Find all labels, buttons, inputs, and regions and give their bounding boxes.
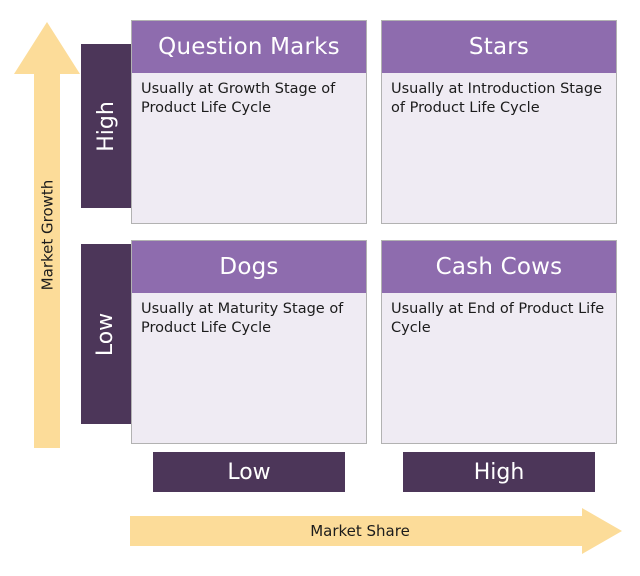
quadrant-dogs-header: Dogs — [132, 241, 366, 293]
quadrant-cash-cows[interactable]: Cash Cows Usually at End of Product Life… — [381, 240, 617, 444]
quadrant-stars-title: Stars — [469, 34, 529, 60]
axis-tick-share-high: High — [403, 452, 595, 492]
bcg-matrix-diagram: Market Growth Market Share High Low Low … — [0, 0, 640, 576]
axis-tick-growth-low: Low — [81, 244, 131, 424]
quadrant-question-marks-description: Usually at Growth Stage of Product Life … — [132, 73, 366, 118]
axis-tick-growth-high-label: High — [94, 101, 119, 152]
market-share-arrow-icon — [130, 508, 622, 554]
axis-tick-growth-low-label: Low — [93, 312, 118, 355]
quadrant-dogs-description: Usually at Maturity Stage of Product Lif… — [132, 293, 366, 338]
quadrant-question-marks-title: Question Marks — [158, 34, 340, 60]
market-growth-arrow-icon — [12, 22, 82, 448]
quadrant-question-marks-header: Question Marks — [132, 21, 366, 73]
quadrant-dogs[interactable]: Dogs Usually at Maturity Stage of Produc… — [131, 240, 367, 444]
quadrant-question-marks[interactable]: Question Marks Usually at Growth Stage o… — [131, 20, 367, 224]
axis-tick-growth-high: High — [81, 44, 131, 208]
quadrant-stars-header: Stars — [382, 21, 616, 73]
quadrant-dogs-title: Dogs — [219, 254, 278, 280]
axis-tick-share-low-label: Low — [227, 460, 270, 485]
quadrant-cash-cows-header: Cash Cows — [382, 241, 616, 293]
axis-tick-share-high-label: High — [474, 460, 525, 485]
quadrant-cash-cows-description: Usually at End of Product Life Cycle — [382, 293, 616, 338]
quadrant-stars[interactable]: Stars Usually at Introduction Stage of P… — [381, 20, 617, 224]
axis-tick-share-low: Low — [153, 452, 345, 492]
quadrant-cash-cows-title: Cash Cows — [436, 254, 563, 280]
quadrant-stars-description: Usually at Introduction Stage of Product… — [382, 73, 616, 118]
